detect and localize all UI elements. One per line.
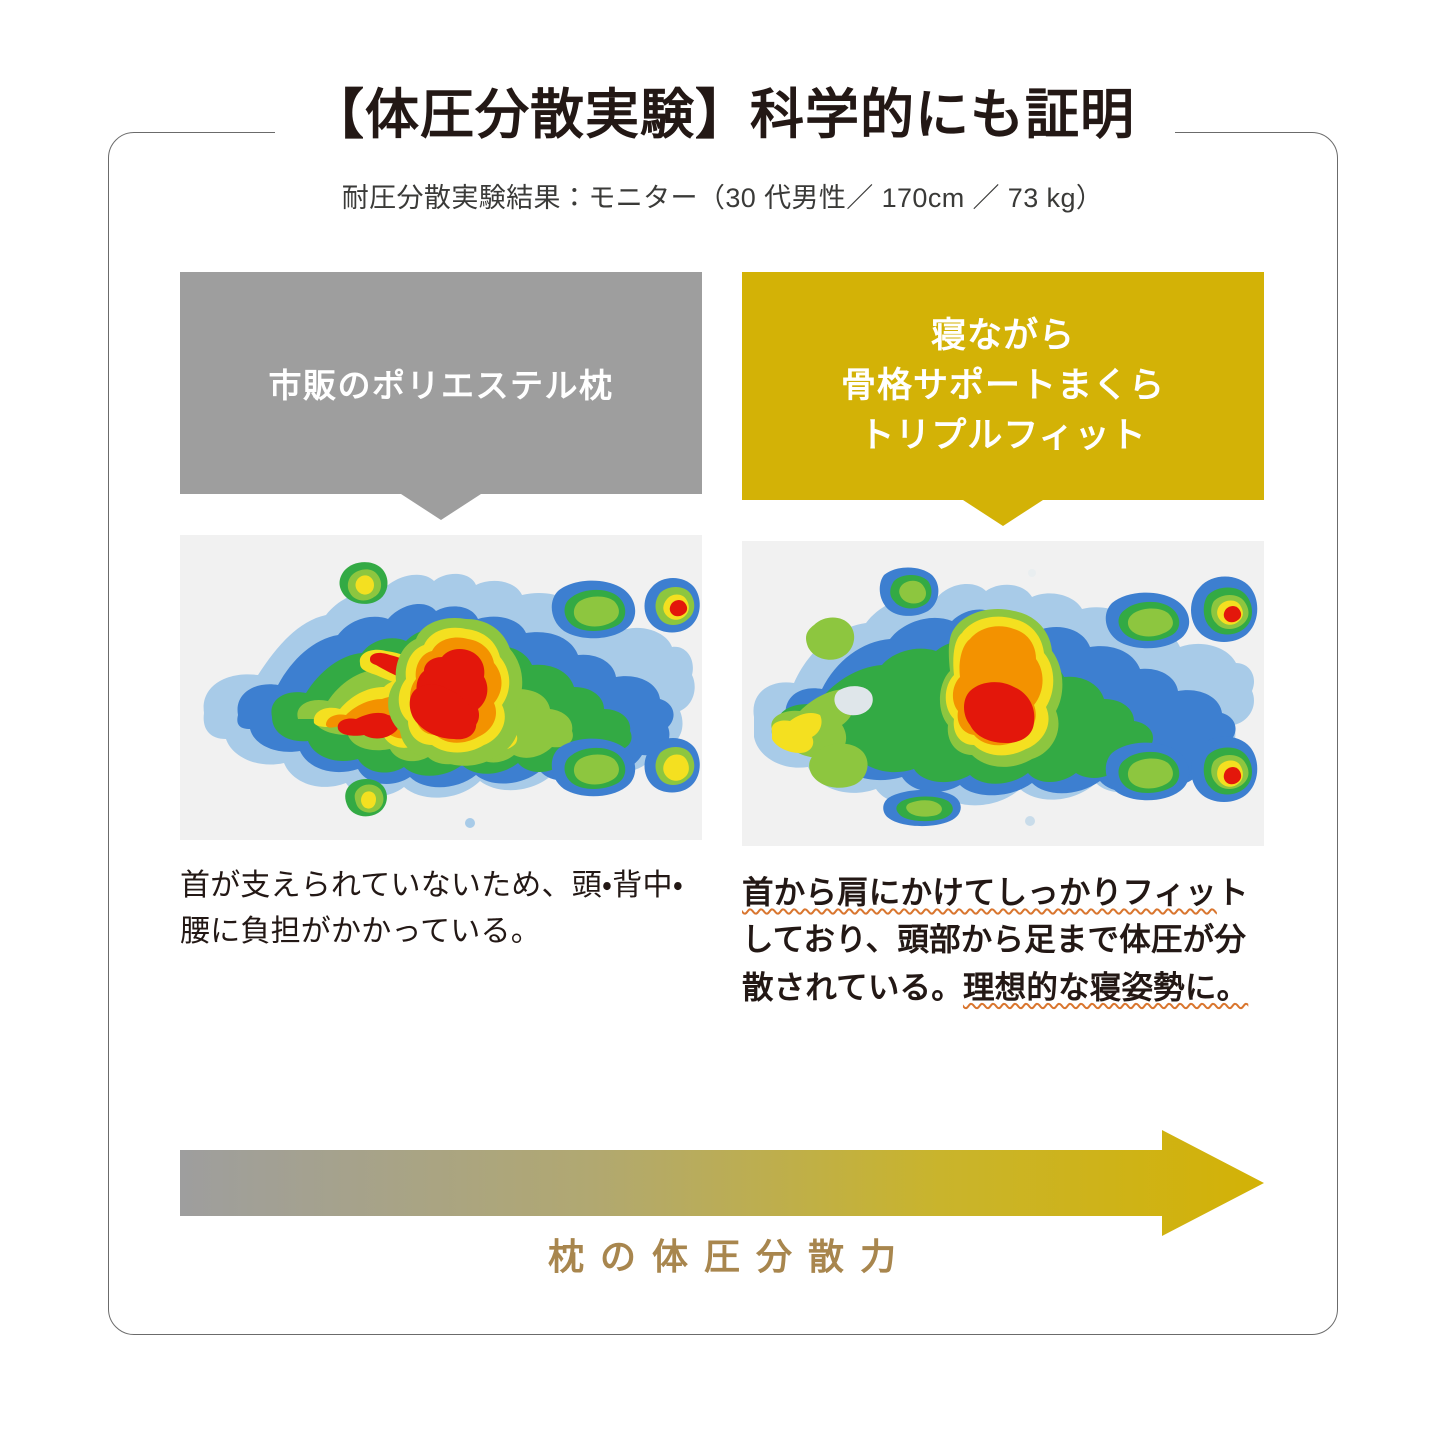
pressure-dispersion-arrow: [180, 1130, 1264, 1236]
left-product-header: 市販のポリエステル枕: [180, 272, 702, 494]
right-header-notch-icon: [963, 500, 1043, 526]
left-header-notch-icon: [401, 494, 481, 520]
right-heatmap: [742, 541, 1264, 846]
right-caption-emphasis-1: 首から肩にかけてしっかりフィッ: [742, 874, 1217, 910]
left-caption: 首が支えられていないため、頭・背中・腰に負担がかかっている。: [180, 863, 702, 954]
arrow-label: 枕の体圧分散力: [180, 1228, 1264, 1280]
left-heatmap: [180, 535, 702, 840]
left-product-label: 市販のポリエステル枕: [269, 359, 614, 407]
right-product-label-line3: トリプルフィット: [742, 411, 1264, 461]
page-subtitle: 耐圧分散実験結果：モニター（30 代男性／ 170cm ／ 73 kg）: [0, 176, 1445, 215]
right-product-label-line2: 骨格サポートまくら: [742, 361, 1264, 411]
comparison-column-right: 寝ながら 骨格サポートまくら トリプルフィット: [742, 272, 1264, 1011]
comparison-column-left: 市販のポリエステル枕: [180, 272, 702, 954]
right-caption: 首から肩にかけてしっかりフィットしており、頭部から足まで体圧が分散されている。理…: [742, 869, 1264, 1011]
page-title: 【体圧分散実験】科学的にも証明: [0, 84, 1445, 148]
right-caption-emphasis-2: 理想的な寝姿勢に。: [963, 969, 1248, 1005]
right-product-label-line1: 寝ながら: [742, 311, 1264, 361]
right-product-header: 寝ながら 骨格サポートまくら トリプルフィット: [742, 272, 1264, 500]
